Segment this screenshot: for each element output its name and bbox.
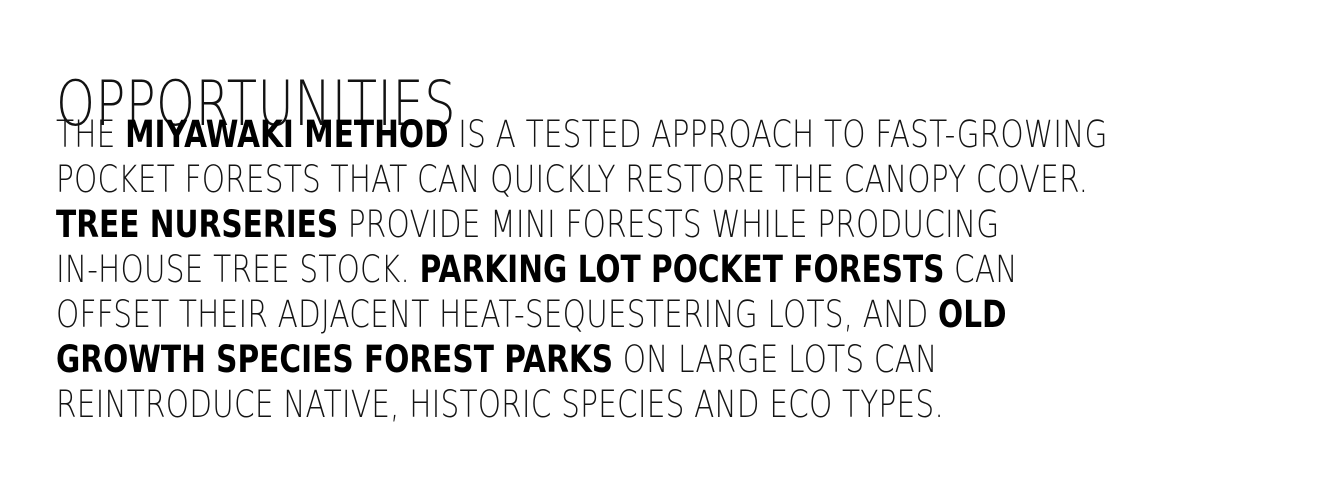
- body-text: THE: [56, 113, 125, 156]
- body-line: OFFSET THEIR ADJACENT HEAT-SEQUESTERING …: [56, 292, 1256, 337]
- body-line: THE MIYAWAKI METHOD IS A TESTED APPROACH…: [56, 112, 1256, 157]
- opportunities-slide: OPPORTUNITIES THE MIYAWAKI METHOD IS A T…: [0, 0, 1325, 488]
- body-text: OFFSET THEIR ADJACENT HEAT-SEQUESTERING …: [56, 293, 938, 336]
- body-line: POCKET FORESTS THAT CAN QUICKLY RESTORE …: [56, 157, 1256, 202]
- body-paragraph: THE MIYAWAKI METHOD IS A TESTED APPROACH…: [56, 112, 1325, 427]
- body-text: PROVIDE MINI FORESTS WHILE PRODUCING: [338, 203, 999, 246]
- body-line: REINTRODUCE NATIVE, HISTORIC SPECIES AND…: [56, 382, 1256, 427]
- body-line: IN-HOUSE TREE STOCK. PARKING LOT POCKET …: [56, 247, 1256, 292]
- body-text: ON LARGE LOTS CAN: [613, 338, 937, 381]
- body-line: GROWTH SPECIES FOREST PARKS ON LARGE LOT…: [56, 337, 1256, 382]
- emphasized-text: MIYAWAKI METHOD: [125, 113, 449, 156]
- emphasized-text: OLD: [938, 293, 1007, 336]
- emphasized-text: PARKING LOT POCKET FORESTS: [420, 248, 945, 291]
- body-text: REINTRODUCE NATIVE, HISTORIC SPECIES AND…: [56, 383, 944, 426]
- body-text: IN-HOUSE TREE STOCK.: [56, 248, 420, 291]
- emphasized-text: GROWTH SPECIES FOREST PARKS: [56, 338, 613, 381]
- body-line: TREE NURSERIES PROVIDE MINI FORESTS WHIL…: [56, 202, 1256, 247]
- body-text: IS A TESTED APPROACH TO FAST-GROWING: [449, 113, 1108, 156]
- body-text: POCKET FORESTS THAT CAN QUICKLY RESTORE …: [56, 158, 1088, 201]
- body-text: CAN: [944, 248, 1017, 291]
- emphasized-text: TREE NURSERIES: [56, 203, 338, 246]
